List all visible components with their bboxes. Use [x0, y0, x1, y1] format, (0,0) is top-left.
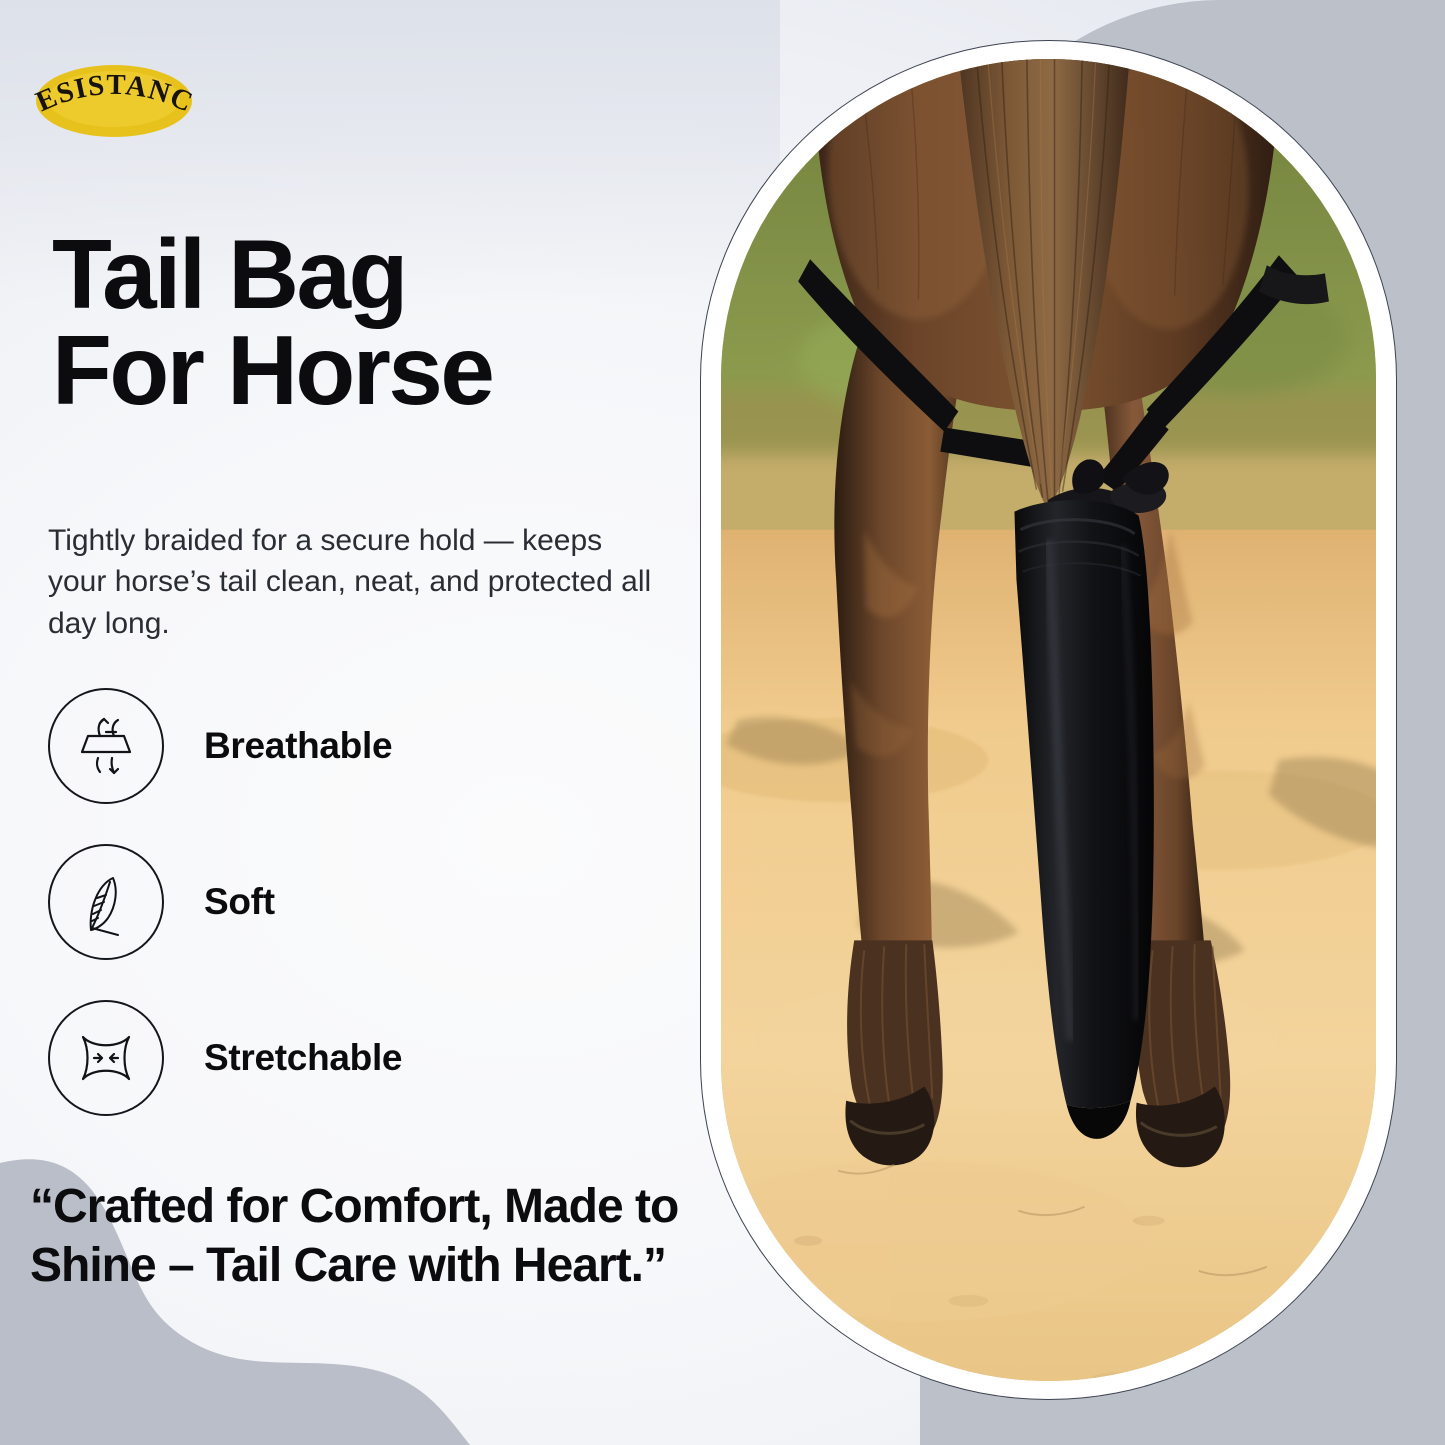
product-photo	[721, 59, 1376, 1381]
product-description: Tightly braided for a secure hold — keep…	[48, 520, 668, 644]
page-title: Tail Bag For Horse	[52, 226, 692, 418]
headline-line-1: Tail Bag	[52, 219, 406, 329]
quote-line-1: “Crafted for Comfort, Made to	[30, 1180, 678, 1233]
feature-label: Stretchable	[204, 1037, 402, 1079]
feature-item-soft: Soft	[48, 842, 668, 962]
stretch-fabric-icon	[48, 1000, 164, 1116]
airflow-fabric-icon	[48, 688, 164, 804]
horse-tail-bag-photo-illustration	[721, 59, 1376, 1381]
feature-item-stretchable: Stretchable	[48, 998, 668, 1118]
headline-line-2: For Horse	[52, 322, 692, 418]
product-infographic: RESISTANCE Tail Bag For Horse Tightly br…	[0, 0, 1445, 1445]
product-photo-frame	[700, 40, 1397, 1400]
marketing-quote: “Crafted for Comfort, Made to Shine – Ta…	[30, 1178, 720, 1295]
resistance-logo-icon: RESISTANCE	[24, 55, 204, 143]
feather-icon	[48, 844, 164, 960]
feature-label: Breathable	[204, 725, 392, 767]
feature-label: Soft	[204, 881, 275, 923]
brand-logo: RESISTANCE	[24, 55, 204, 143]
feature-item-breathable: Breathable	[48, 686, 668, 806]
quote-line-2: Shine – Tail Care with Heart.”	[30, 1237, 720, 1296]
feature-list: Breathable Soft Stretchab	[48, 686, 668, 1118]
